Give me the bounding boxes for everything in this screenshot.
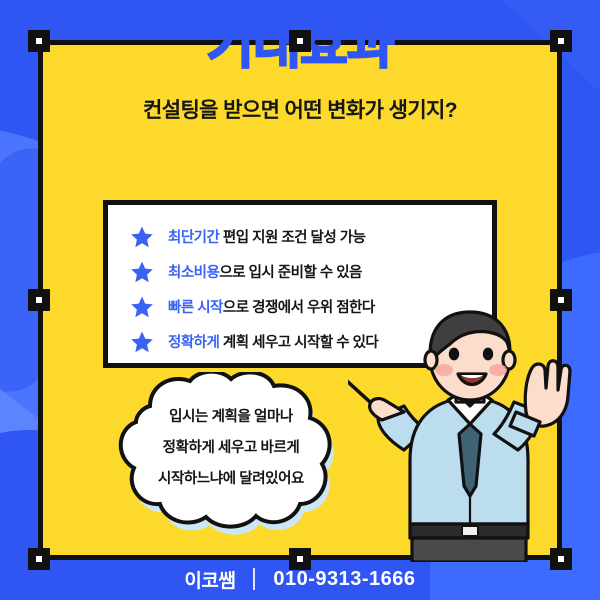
poster-canvas: 기대효과 컨설팅을 받으면 어떤 변화가 생기지? 최단기간 편입 지원 조건 … [0, 0, 600, 600]
frame-pin-bottom-right [550, 548, 572, 570]
bubble-line-3: 시작하느냐에 달려있어요 [98, 464, 364, 495]
benefit-text: 최소비용으로 입시 준비할 수 있음 [168, 261, 362, 282]
benefit-rest: 편입 지원 조건 달성 가능 [219, 230, 365, 246]
speech-bubble-text: 입시는 계획을 얼마나 정확하게 세우고 바르게 시작하느냐에 달려있어요 [98, 402, 364, 495]
frame-pin-top-center [289, 30, 311, 52]
frame-pin-top-left [28, 30, 50, 52]
frame-pin-top-right [550, 30, 572, 52]
list-item: 최소비용으로 입시 준비할 수 있음 [108, 254, 492, 289]
frame-pin-middle-left [28, 289, 50, 311]
subtitle-emphasis-1: 컨설팅 [143, 99, 199, 122]
star-icon [130, 295, 154, 319]
page-subtitle: 컨설팅을 받으면 어떤 변화가 생기지? [0, 94, 600, 124]
footer-divider [253, 568, 255, 590]
speech-bubble: 입시는 계획을 얼마나 정확하게 세우고 바르게 시작하느냐에 달려있어요 [98, 372, 364, 540]
contact-phone-number[interactable]: 010-9313-1666 [273, 568, 415, 591]
frame-pin-bottom-left [28, 548, 50, 570]
star-icon [130, 260, 154, 284]
bubble-line-2: 정확하게 세우고 바르게 [98, 433, 364, 464]
benefit-text: 최단기간 편입 지원 조건 달성 가능 [168, 226, 365, 247]
bubble-line-1: 입시는 계획을 얼마나 [98, 402, 364, 433]
subtitle-emphasis-2: 어떤 변화 [285, 99, 365, 122]
benefit-rest: 으로 입시 준비할 수 있음 [219, 265, 362, 281]
star-icon [130, 225, 154, 249]
benefit-text: 정확하게 계획 세우고 시작할 수 있다 [168, 331, 378, 352]
benefit-highlight: 정확하게 [168, 335, 219, 351]
subtitle-plain-2: 가 생기지? [365, 99, 457, 122]
brand-name: 이코쌤 [184, 566, 235, 593]
benefit-highlight: 최단기간 [168, 230, 219, 246]
list-item: 최단기간 편입 지원 조건 달성 가능 [108, 219, 492, 254]
star-icon [130, 330, 154, 354]
benefit-text: 빠른 시작으로 경쟁에서 우위 점한다 [168, 296, 375, 317]
benefit-highlight: 최소비용 [168, 265, 219, 281]
subtitle-plain-1: 을 받으면 [199, 99, 284, 122]
teacher-character-illustration [348, 300, 578, 562]
benefit-highlight: 빠른 시작 [168, 300, 223, 316]
frame-pin-middle-right [550, 289, 572, 311]
frame-pin-bottom-center [289, 548, 311, 570]
